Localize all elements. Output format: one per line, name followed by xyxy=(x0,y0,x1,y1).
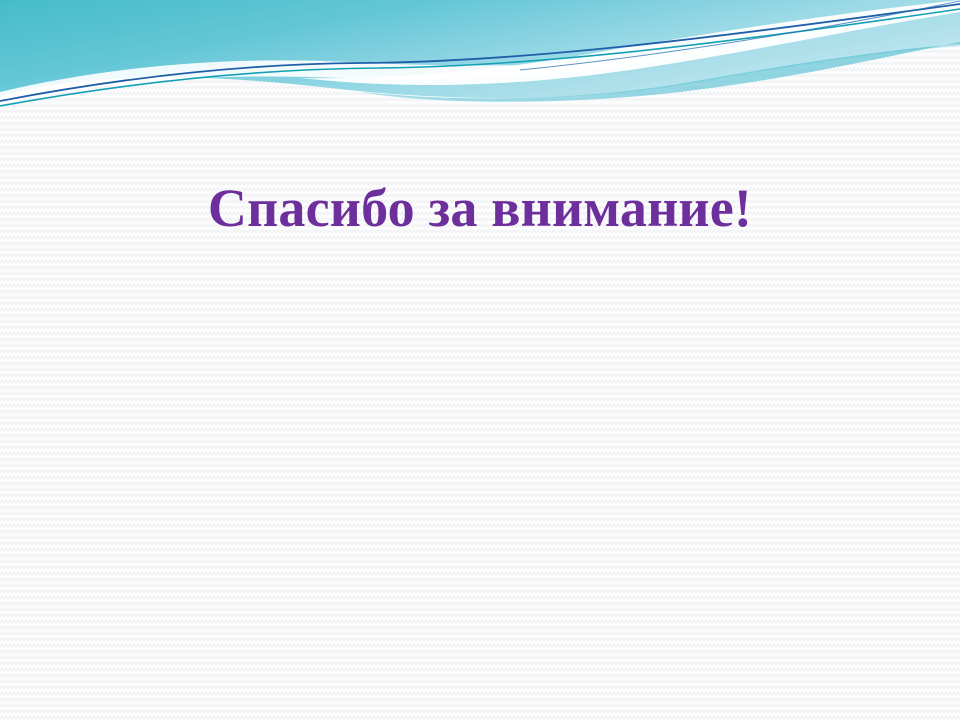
page-title: Спасибо за внимание! xyxy=(208,178,752,238)
thin-blue-curve-secondary xyxy=(520,1,960,70)
title-placeholder: Спасибо за внимание! xyxy=(0,178,960,238)
white-swoosh-upper xyxy=(300,0,960,85)
teal-band-upper xyxy=(0,0,960,98)
thin-blue-curve xyxy=(0,4,960,101)
flow-wave-graphic xyxy=(0,0,960,130)
body-placeholder xyxy=(96,290,864,630)
presentation-slide: Спасибо за внимание! xyxy=(0,0,960,720)
teal-band-lower xyxy=(360,10,960,102)
white-swoosh-lower xyxy=(0,50,720,104)
thin-teal-curve xyxy=(0,9,960,106)
